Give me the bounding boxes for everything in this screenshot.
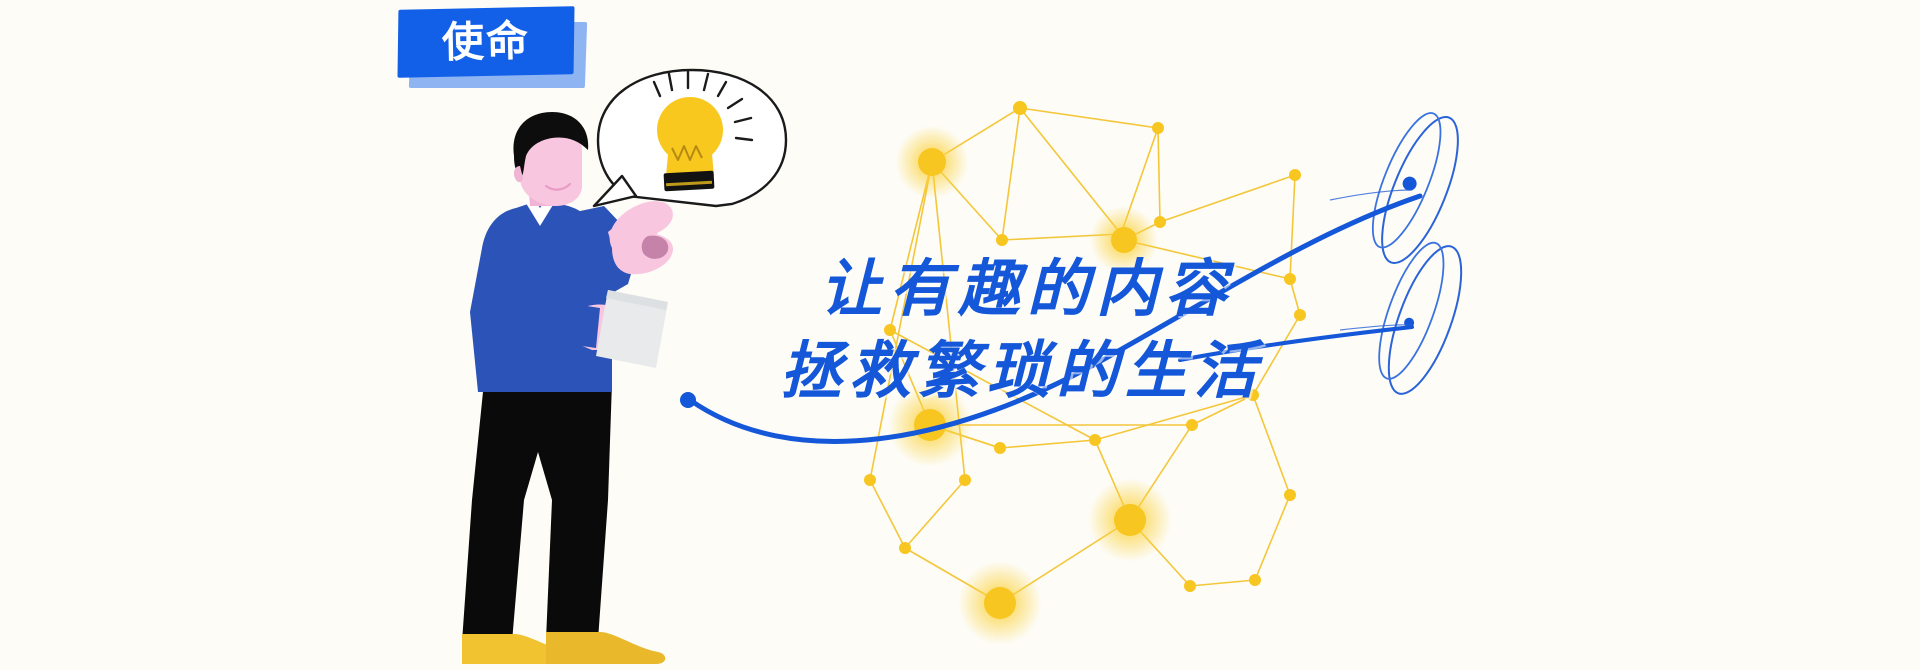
mission-banner: 使命 让有趣的内容 拯救繁琐的生活 [0,0,1920,670]
headline-line-2: 拯救繁琐的生活 [780,330,1263,412]
headline: 让有趣的内容 拯救繁琐的生活 [820,248,1263,412]
headline-line-1: 让有趣的内容 [820,248,1263,330]
